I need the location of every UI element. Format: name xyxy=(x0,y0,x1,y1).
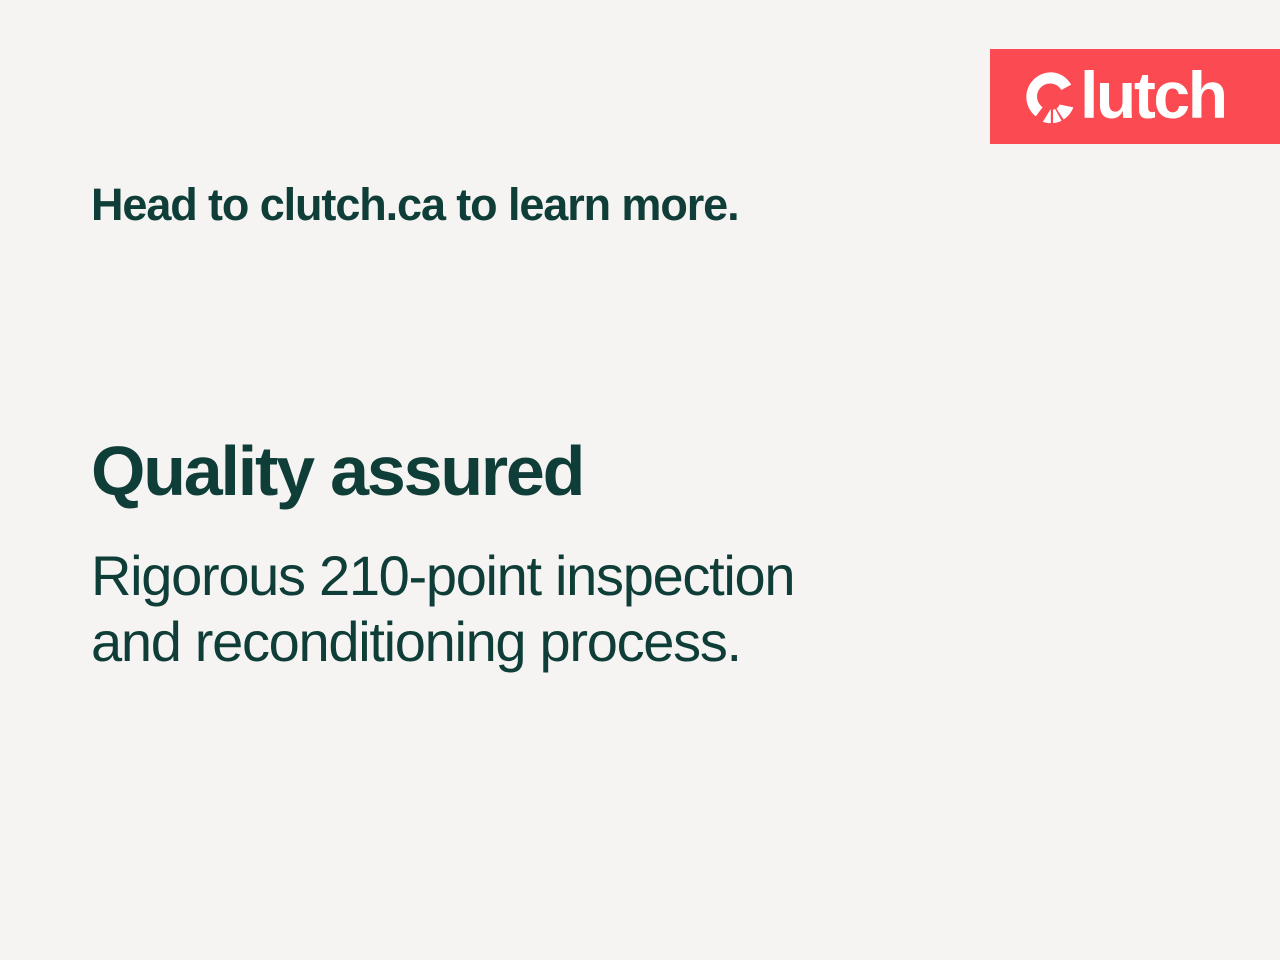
brand-wordmark: lutch xyxy=(1080,62,1226,128)
clutch-c-mark-icon xyxy=(1023,69,1079,125)
subheading: Rigorous 210-point inspection and recond… xyxy=(91,543,794,674)
page-title: Quality assured xyxy=(91,434,583,508)
brand-banner: lutch xyxy=(990,49,1280,144)
slide-canvas: lutch Head to clutch.ca to learn more. Q… xyxy=(0,0,1280,960)
subheading-line-1: Rigorous 210-point inspection xyxy=(91,543,794,609)
cta-text: Head to clutch.ca to learn more. xyxy=(91,180,738,230)
clutch-logo: lutch xyxy=(1023,49,1226,144)
subheading-line-2: and reconditioning process. xyxy=(91,609,794,675)
